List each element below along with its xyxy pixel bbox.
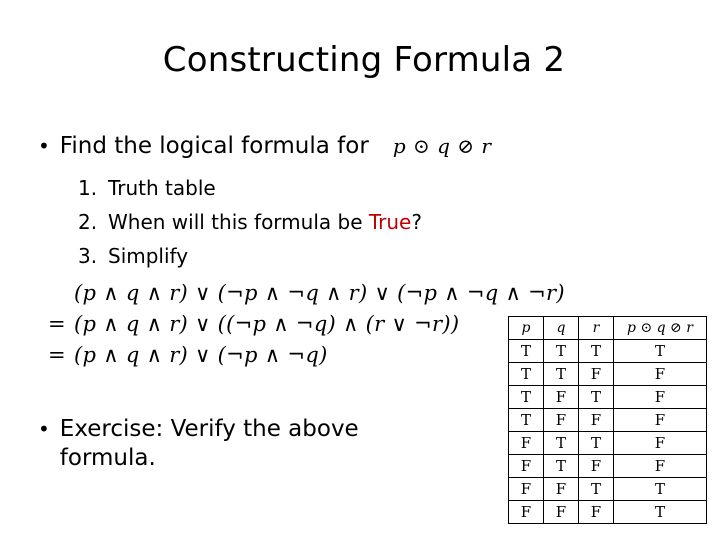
cell-p: F	[509, 455, 544, 478]
bullet-item-exercise: • Exercise: Verify the above formula.	[38, 415, 450, 473]
cell-result: T	[614, 340, 707, 363]
derivation-lead: =	[48, 312, 74, 336]
list-item: 1. Truth table	[78, 176, 422, 200]
numbered-list: 1. Truth table 2. When will this formula…	[78, 176, 422, 278]
table-header-row: p q r p ⊙ q ⊘ r	[509, 317, 707, 340]
derivation-expression: (p ∧ q ∧ r) ∨ ((¬p ∧ ¬q) ∧ (r ∨ ¬r))	[74, 312, 459, 336]
table-row: F F T T	[509, 478, 707, 501]
bullet-item-find-formula: • Find the logical formula for p ⊙ q ⊘ r	[38, 133, 491, 159]
cell-r: F	[579, 409, 614, 432]
bullet-marker: •	[38, 419, 50, 439]
cell-result: F	[614, 455, 707, 478]
bullet-text: Find the logical formula for	[60, 133, 369, 159]
table-row: T T T T	[509, 340, 707, 363]
cell-p: F	[509, 501, 544, 524]
cell-r: F	[579, 501, 614, 524]
cell-result: T	[614, 478, 707, 501]
table-row: F T F F	[509, 455, 707, 478]
table-row: F F F T	[509, 501, 707, 524]
list-item: 2. When will this formula be True?	[78, 210, 422, 234]
page-title: Constructing Formula 2	[0, 40, 728, 80]
derivation-lead: =	[48, 343, 74, 367]
derivation-line: = (p ∧ q ∧ r) ∨ (¬p ∧ ¬q)	[48, 343, 565, 367]
cell-result: T	[614, 501, 707, 524]
cell-r: T	[579, 432, 614, 455]
cell-p: F	[509, 432, 544, 455]
cell-p: T	[509, 340, 544, 363]
table-header-p: p	[509, 317, 544, 340]
cell-result: F	[614, 432, 707, 455]
cell-r: F	[579, 363, 614, 386]
cell-q: T	[544, 363, 579, 386]
list-item-label: When will this formula be True?	[108, 210, 422, 234]
cell-r: T	[579, 478, 614, 501]
derivation-block: (p ∧ q ∧ r) ∨ (¬p ∧ ¬q ∧ r) ∨ (¬p ∧ ¬q ∧…	[48, 281, 565, 374]
list-item-label: Truth table	[108, 176, 216, 200]
list-item: 3. Simplify	[78, 244, 422, 268]
highlight-true: True	[369, 210, 411, 234]
cell-q: T	[544, 432, 579, 455]
cell-r: F	[579, 455, 614, 478]
cell-p: T	[509, 409, 544, 432]
list-item-number: 3.	[78, 244, 108, 268]
cell-r: T	[579, 340, 614, 363]
cell-result: F	[614, 409, 707, 432]
table-header-formula: p ⊙ q ⊘ r	[614, 317, 707, 340]
table-header-q: q	[544, 317, 579, 340]
cell-p: F	[509, 478, 544, 501]
cell-r: T	[579, 386, 614, 409]
list-item-number: 2.	[78, 210, 108, 234]
list-item-text-before: When will this formula be	[108, 210, 369, 234]
bullet-marker: •	[38, 136, 50, 156]
table-row: T F T F	[509, 386, 707, 409]
slide: Constructing Formula 2 • Find the logica…	[0, 0, 728, 546]
cell-q: T	[544, 455, 579, 478]
list-item-label: Simplify	[108, 244, 188, 268]
derivation-expression: (p ∧ q ∧ r) ∨ (¬p ∧ ¬q)	[74, 343, 328, 367]
cell-q: T	[544, 340, 579, 363]
table-row: T F F F	[509, 409, 707, 432]
cell-result: F	[614, 363, 707, 386]
table-header-r: r	[579, 317, 614, 340]
cell-p: T	[509, 386, 544, 409]
list-item-number: 1.	[78, 176, 108, 200]
bullet-text: Exercise: Verify the above formula.	[60, 415, 450, 473]
cell-q: F	[544, 501, 579, 524]
table-row: T T F F	[509, 363, 707, 386]
derivation-expression: (p ∧ q ∧ r) ∨ (¬p ∧ ¬q ∧ r) ∨ (¬p ∧ ¬q ∧…	[74, 281, 565, 305]
cell-q: F	[544, 409, 579, 432]
cell-p: T	[509, 363, 544, 386]
cell-result: F	[614, 386, 707, 409]
cell-q: F	[544, 478, 579, 501]
truth-table: p q r p ⊙ q ⊘ r T T T T T T F F T F	[508, 316, 707, 524]
list-item-text-after: ?	[411, 210, 422, 234]
derivation-line: = (p ∧ q ∧ r) ∨ ((¬p ∧ ¬q) ∧ (r ∨ ¬r))	[48, 312, 565, 336]
table-row: F T T F	[509, 432, 707, 455]
inline-formula: p ⊙ q ⊘ r	[379, 134, 492, 158]
cell-q: F	[544, 386, 579, 409]
derivation-line: (p ∧ q ∧ r) ∨ (¬p ∧ ¬q ∧ r) ∨ (¬p ∧ ¬q ∧…	[48, 281, 565, 305]
